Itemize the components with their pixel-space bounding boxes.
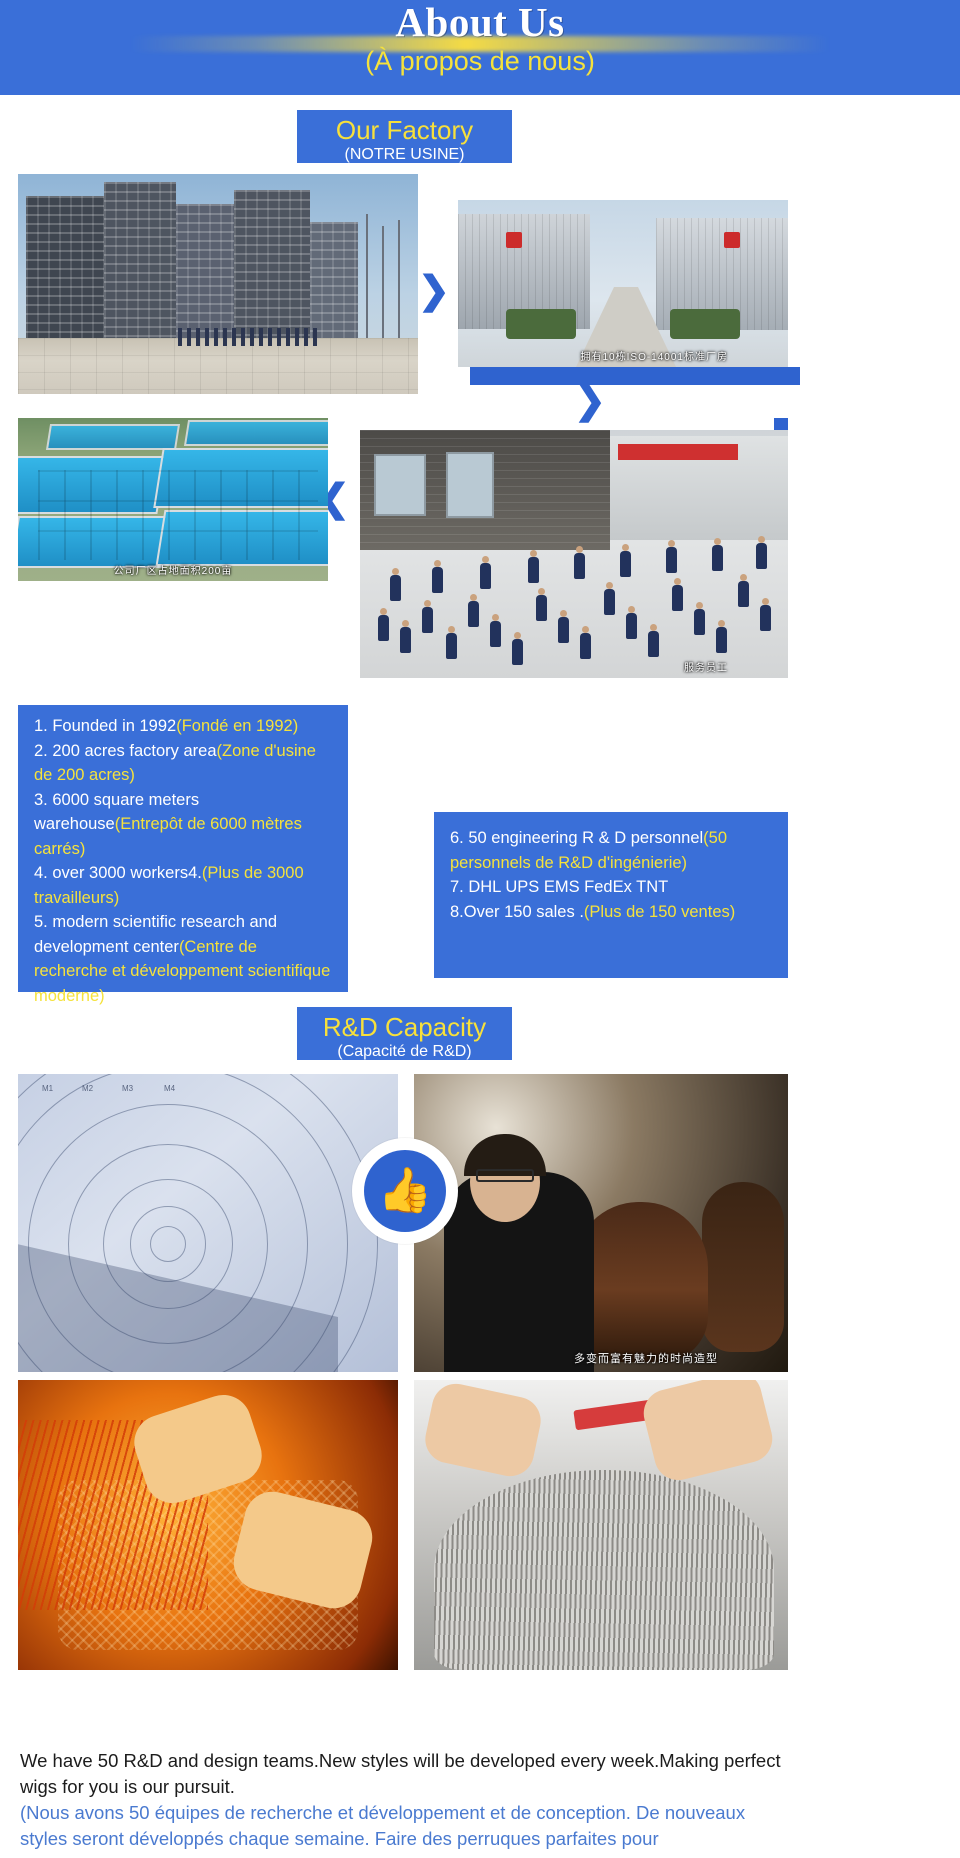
fact-item: 4. over 3000 workers4.(Plus de 3000 trav… [34,861,334,910]
arrow-right-icon: ❯ [418,272,450,310]
building-sign [724,232,740,248]
fact-en: 7. DHL UPS EMS FedEx TNT [450,878,668,896]
sketch-label: M2 [82,1084,93,1093]
glasses-icon [476,1169,534,1182]
flag-pole [382,226,384,354]
fact-en: 4. over 3000 workers4. [34,864,202,882]
fact-item: 5. modern scientific research and develo… [34,910,334,1008]
fact-en: 6. 50 engineering R & D personnel [450,829,703,847]
worker-crowd [360,523,788,678]
section-banner-factory: Our Factory (NOTRE USINE) [297,110,512,163]
photo-office-building [18,174,418,394]
fact-item: 3. 6000 square meters warehouse(Entrepôt… [34,788,334,862]
photo-plaza-ground [18,338,418,394]
flag-pole [398,220,400,354]
building-sign [506,232,522,248]
factory-facts-right: 6. 50 engineering R & D personnel(50 per… [434,812,788,978]
fact-en: 8.Over 150 sales . [450,903,584,921]
photo-stylist-cutting-wig: 多变而富有魅力的时尚造型 [414,1074,788,1372]
hedge [506,309,576,339]
tower [234,190,310,351]
roof [184,420,328,446]
red-signboard [618,444,738,460]
photo-caption: 拥有10栋ISO-14001标准厂房 [458,348,788,363]
section-banner-rnd: R&D Capacity (Capacité de R&D) [297,1007,512,1060]
fact-fr: (Fondé en 1992) [176,717,298,735]
photo-aerial-factory: 公司厂区占地面积200亩 [18,418,328,581]
sketch-label: M4 [164,1084,175,1093]
window [374,454,426,516]
factory-facts-left: 1. Founded in 1992(Fondé en 1992) 2. 200… [18,705,348,992]
sketch-label: M1 [42,1084,53,1093]
fact-item: 8.Over 150 sales .(Plus de 150 ventes) [450,900,774,925]
fact-en: 1. Founded in 1992 [34,717,176,735]
tower [26,196,104,351]
photo-hand-knotting-hair [18,1380,398,1670]
page-subtitle-french: (À propos de nous) [0,46,960,77]
roof-vents [38,470,318,560]
photo-warehouse-accent-bar [470,367,800,385]
page-title: About Us [0,0,960,46]
window [446,452,494,518]
hedge [670,309,740,339]
fact-item: 1. Founded in 1992(Fondé en 1992) [34,714,334,739]
fact-item: 7. DHL UPS EMS FedEx TNT [450,875,774,900]
photo-caption: 多变而富有魅力的时尚造型 [414,1350,788,1366]
page-header: About Us (À propos de nous) [0,0,960,95]
rnd-caption-fr: (Nous avons 50 équipes de recherche et d… [20,1800,790,1852]
flag-pole [366,214,368,354]
photo-caption: 公司厂区占地面积200亩 [18,562,328,577]
thumbs-up-icon: 👍 [364,1150,446,1232]
photo-warehouse-road: 拥有10栋ISO-14001标准厂房 [458,200,788,367]
photo-caption: 服务员工 [360,659,788,674]
banner-factory-subtitle: (NOTRE USINE) [297,145,512,164]
grey-hair [434,1470,774,1670]
roof [46,424,180,450]
banner-rnd-title: R&D Capacity [297,1012,512,1042]
tower [104,182,176,351]
banner-factory-title: Our Factory [297,115,512,145]
photo-workers-walking: 服务员工 [360,430,788,678]
rnd-caption: We have 50 R&D and design teams.New styl… [20,1748,790,1852]
rnd-caption-en: We have 50 R&D and design teams.New styl… [20,1750,781,1797]
photo-pattern-sketch: M1 M2 M3 M4 [18,1074,398,1372]
photo-combing-grey-hair [414,1380,788,1670]
fact-fr: (Plus de 150 ventes) [584,903,735,921]
wig-mannequin-secondary [702,1182,784,1352]
photo-people-group [178,328,318,346]
sketch-label: M3 [122,1084,133,1093]
sketch-arc [150,1226,186,1262]
fact-item: 6. 50 engineering R & D personnel(50 per… [450,826,774,875]
fact-item: 2. 200 acres factory area(Zone d'usine d… [34,739,334,788]
thumbs-up-badge: 👍 [352,1138,458,1244]
arrow-down-icon: ❯ [574,382,606,420]
fact-en: 2. 200 acres factory area [34,742,217,760]
banner-rnd-subtitle: (Capacité de R&D) [297,1042,512,1061]
